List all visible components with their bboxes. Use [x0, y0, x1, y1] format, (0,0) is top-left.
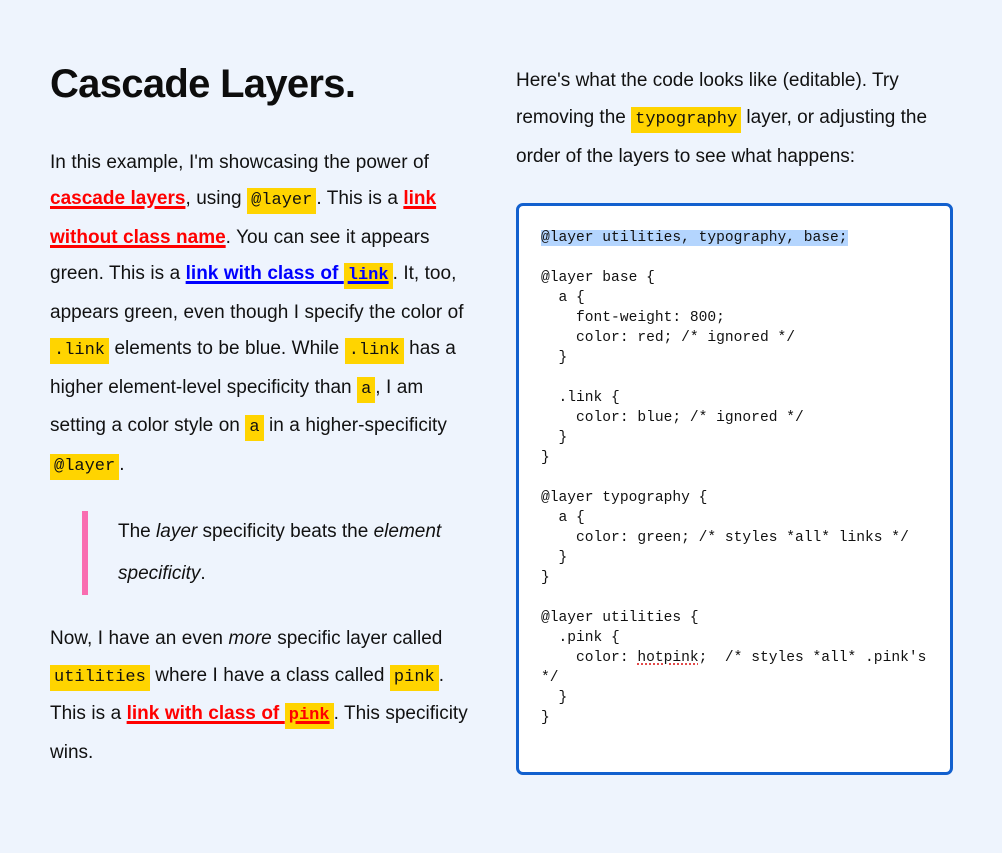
link-label: link with class of — [127, 703, 285, 724]
blockquote-specificity: The layer specificity beats the element … — [82, 511, 482, 595]
code-chip-pink: pink — [390, 665, 439, 691]
link-cascade-layers[interactable]: cascade layers — [50, 188, 185, 209]
text-fragment: , using — [185, 188, 247, 209]
code-block-middle[interactable]: @layer base { a { font-weight: 800; colo… — [541, 270, 909, 586]
link-with-class-of-pink[interactable]: link with class of pink — [127, 703, 334, 724]
code-chip-a-1: a — [357, 377, 375, 403]
cascade-layers-page: Cascade Layers. In this example, I'm sho… — [0, 0, 1002, 853]
code-chip-a-2: a — [245, 415, 263, 441]
text-fragment: in a higher-specificity — [264, 415, 447, 436]
text-fragment: . — [200, 563, 205, 584]
text-fragment: elements to be blue. While — [109, 338, 345, 359]
utilities-paragraph: Now, I have an even more specific layer … — [50, 621, 482, 771]
code-editor-content[interactable]: @layer utilities, typography, base; @lay… — [541, 228, 936, 728]
code-selected-line[interactable]: @layer utilities, typography, base; — [541, 230, 848, 246]
page-title: Cascade Layers. — [50, 62, 482, 107]
emphasis-layer: layer — [156, 521, 197, 542]
text-fragment: specific layer called — [272, 628, 443, 649]
code-intro-paragraph: Here's what the code looks like (editabl… — [516, 62, 953, 175]
code-chip-pink-2: pink — [285, 703, 334, 729]
intro-paragraph: In this example, I'm showcasing the powe… — [50, 145, 482, 486]
code-chip-at-layer-2: @layer — [50, 454, 119, 480]
code-chip-utilities: utilities — [50, 665, 150, 691]
right-column: Here's what the code looks like (editabl… — [516, 62, 953, 775]
text-fragment: The — [118, 521, 156, 542]
code-chip-link: link — [344, 263, 393, 289]
text-fragment: specificity beats the — [197, 521, 373, 542]
code-chip-typography: typography — [631, 107, 741, 133]
text-fragment: where I have a class called — [150, 665, 390, 686]
emphasis-more: more — [228, 628, 271, 649]
link-label: link with class of — [186, 263, 344, 284]
code-chip-dot-link-1: .link — [50, 338, 109, 364]
link-with-class-of-link[interactable]: link with class of link — [186, 263, 393, 284]
text-fragment: In this example, I'm showcasing the powe… — [50, 152, 429, 173]
code-chip-at-layer: @layer — [247, 188, 316, 214]
spellcheck-word-hotpink[interactable]: hotpink — [637, 650, 698, 666]
text-fragment: . — [119, 454, 124, 475]
text-fragment: . This is a — [316, 188, 403, 209]
code-chip-dot-link-2: .link — [345, 338, 404, 364]
text-fragment: Now, I have an even — [50, 628, 228, 649]
left-column: Cascade Layers. In this example, I'm sho… — [50, 62, 482, 771]
code-editor-panel[interactable]: @layer utilities, typography, base; @lay… — [516, 203, 953, 775]
